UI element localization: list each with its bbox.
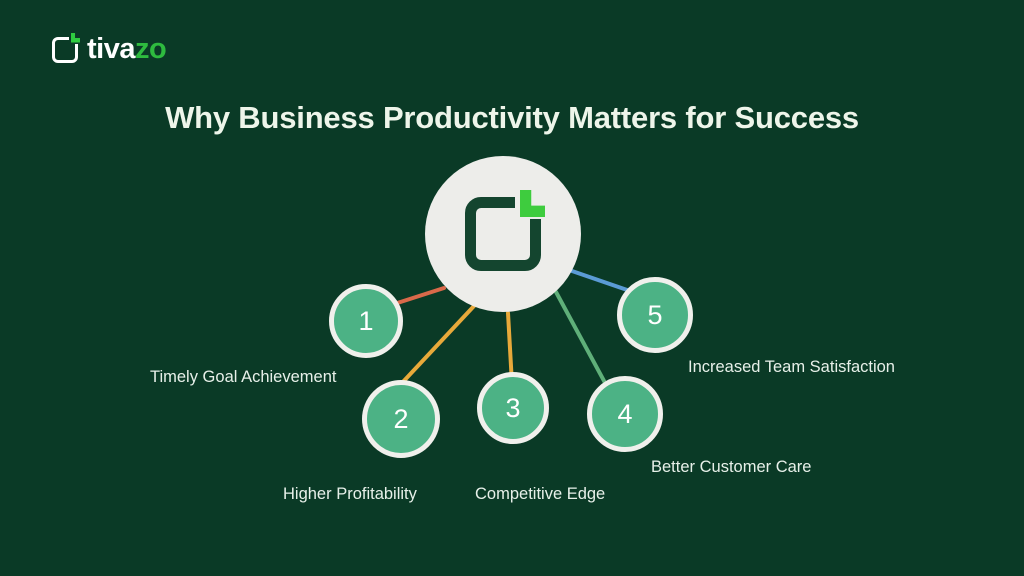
node-number-5: 5 bbox=[647, 300, 662, 331]
diagram-node-4[interactable]: 4 bbox=[587, 376, 663, 452]
node-label-1: Timely Goal Achievement bbox=[150, 368, 336, 387]
connector-line-4 bbox=[556, 292, 610, 392]
node-label-3: Competitive Edge bbox=[475, 485, 605, 504]
node-label-4: Better Customer Care bbox=[651, 458, 811, 477]
node-number-1: 1 bbox=[358, 306, 373, 337]
node-number-2: 2 bbox=[393, 404, 408, 435]
diagram-node-3[interactable]: 3 bbox=[477, 372, 549, 444]
connector-line-5 bbox=[572, 271, 633, 292]
node-number-4: 4 bbox=[617, 399, 632, 430]
diagram-node-5[interactable]: 5 bbox=[617, 277, 693, 353]
tivazo-logo-mark-icon bbox=[465, 197, 541, 271]
diagram-hub[interactable] bbox=[425, 156, 581, 312]
diagram-node-2[interactable]: 2 bbox=[362, 380, 440, 458]
node-number-3: 3 bbox=[505, 393, 520, 424]
node-label-5: Increased Team Satisfaction bbox=[688, 358, 895, 377]
hub-and-spoke-diagram: 1 2 3 4 5 Timely Goal Achievement Higher… bbox=[0, 0, 1024, 576]
diagram-node-1[interactable]: 1 bbox=[329, 284, 403, 358]
node-label-2: Higher Profitability bbox=[283, 485, 417, 504]
